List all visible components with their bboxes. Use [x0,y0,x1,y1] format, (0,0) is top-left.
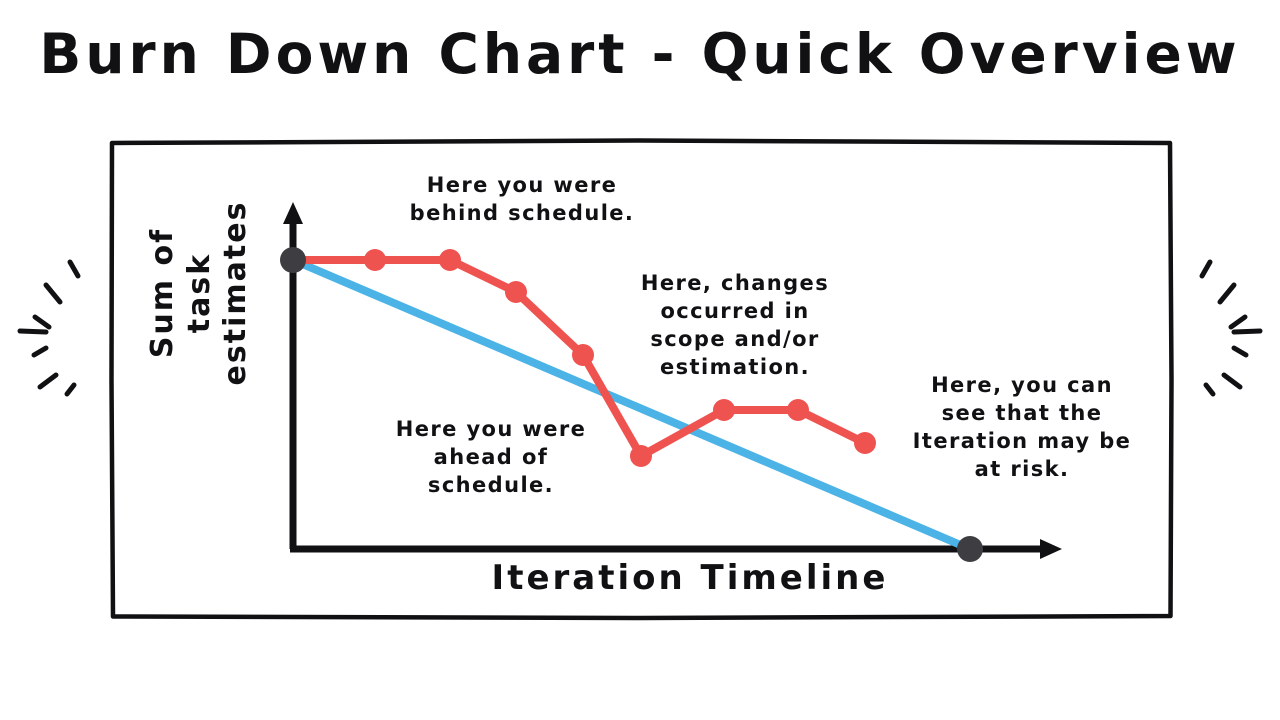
slide-canvas: Burn Down Chart - Quick Overview [0,0,1280,720]
annotation-iteration-at-risk: Here, you can see that the Iteration may… [886,372,1158,484]
data-point [630,445,652,467]
y-axis-label: Sum of task estimates [145,143,255,443]
data-point [854,432,876,454]
sparkle-lines-right [1202,262,1260,394]
y-axis-arrow [283,202,303,224]
x-axis-arrow [1040,539,1062,559]
data-point [439,249,461,271]
data-point [505,281,527,303]
start-point-marker [280,247,306,273]
x-axis-label: Iteration Timeline [380,558,1000,598]
data-point [713,399,735,421]
data-point [787,399,809,421]
annotation-ahead-of-schedule: Here you were ahead of schedule. [362,416,620,500]
annotation-behind-schedule: Here you were behind schedule. [372,172,672,228]
annotation-scope-changes: Here, changes occurred in scope and/or e… [604,270,866,382]
sparkle-lines-left [20,262,78,394]
data-point [364,249,386,271]
data-point [572,344,594,366]
